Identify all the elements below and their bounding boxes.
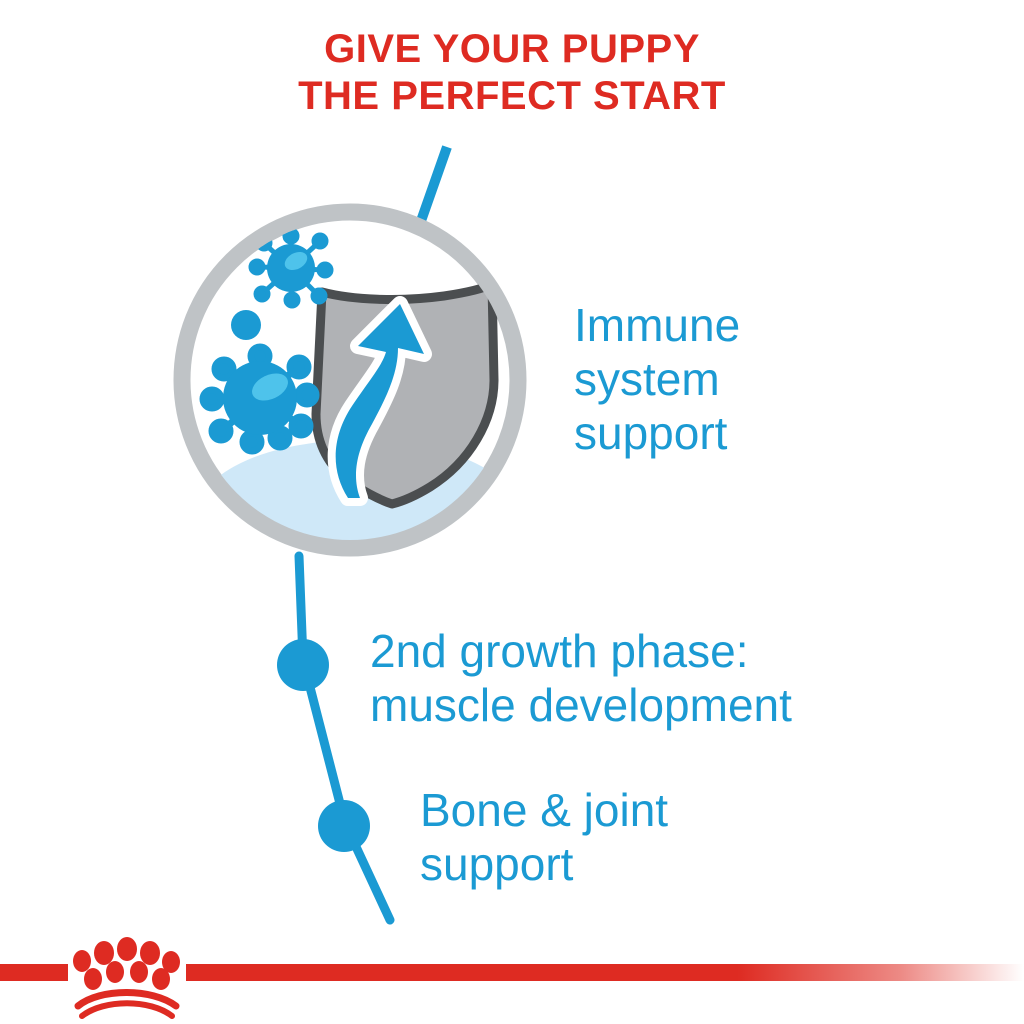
- benefit-bone-line-1: Bone & joint: [420, 783, 668, 837]
- footer-brand-bar: [0, 920, 1024, 1024]
- connector-line-top: [415, 147, 447, 238]
- benefit-label-bone: Bone & joint support: [420, 783, 668, 891]
- puppy-nutrition-infographic: GIVE YOUR PUPPY THE PERFECT START: [0, 0, 1024, 1024]
- benefit-growth-line-2: muscle development: [370, 678, 792, 732]
- benefit-label-immune: Immune system support: [574, 298, 740, 460]
- virus-icon-1: [251, 230, 331, 306]
- benefit-immune-line-2: system: [574, 352, 740, 406]
- shield-icon: [316, 284, 494, 504]
- connector-node-2: [318, 800, 370, 852]
- headline-line-1: GIVE YOUR PUPPY: [0, 26, 1024, 73]
- benefit-immune-line-3: support: [574, 406, 740, 460]
- ground-ellipse: [198, 440, 518, 584]
- deflect-arrow-icon: [336, 304, 424, 498]
- connector-node-1: [277, 639, 329, 691]
- benefit-immune-line-1: Immune: [574, 298, 740, 352]
- page-title: GIVE YOUR PUPPY THE PERFECT START: [0, 26, 1024, 120]
- benefit-growth-line-1: 2nd growth phase:: [370, 624, 792, 678]
- headline-line-2: THE PERFECT START: [0, 73, 1024, 120]
- benefit-label-growth: 2nd growth phase: muscle development: [370, 624, 792, 732]
- badge-circle: [182, 212, 518, 548]
- virus-icon-2: [203, 347, 316, 451]
- virus-particle-dot: [231, 310, 261, 340]
- connector-line-bottom: [277, 556, 390, 920]
- benefit-bone-line-2: support: [420, 837, 668, 891]
